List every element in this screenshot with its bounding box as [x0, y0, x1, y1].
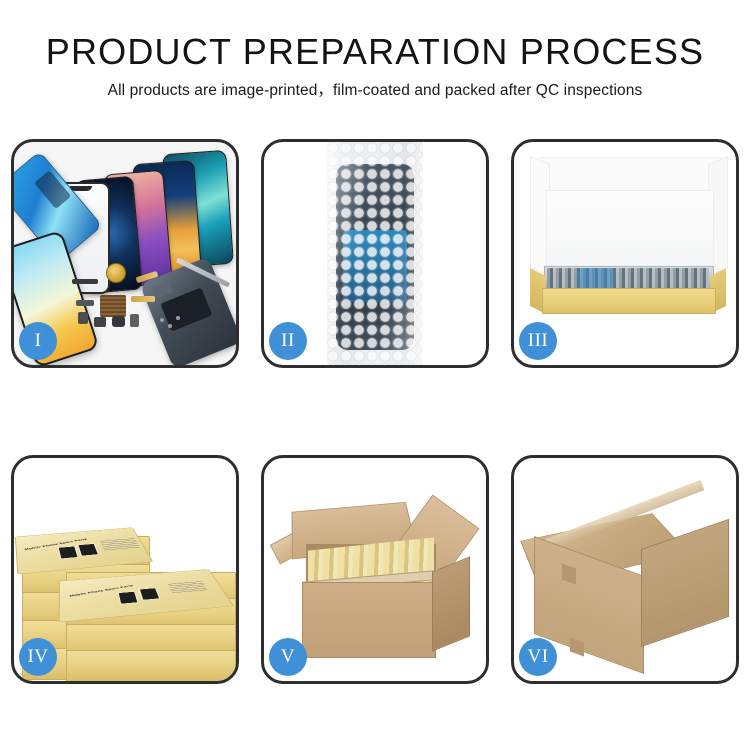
page-title: PRODUCT PREPARATION PROCESS: [0, 30, 750, 74]
taptic-engine-part-icon: [78, 312, 88, 324]
plastic-sheen-icon: [327, 142, 423, 365]
box-label-spec-lines-right: [168, 581, 208, 593]
mesh-part-icon: [100, 295, 126, 317]
wrapped-product-in-box-icon: [547, 268, 709, 288]
box-label-image-3: [118, 591, 139, 604]
step-badge-3: III: [519, 322, 557, 360]
step-badge-5: V: [269, 638, 307, 676]
screw-1-icon: [160, 318, 164, 322]
box-label-image-4: [139, 588, 160, 601]
box-inner-wall-icon: [546, 190, 714, 274]
box-label-image-1: [58, 546, 79, 559]
box-label-spec-lines-left: [100, 538, 140, 551]
steps-grid: I II: [11, 139, 739, 684]
carton-front-panel-icon: [302, 582, 436, 658]
step-panel-3[interactable]: III: [511, 139, 739, 368]
step-badge-2: II: [269, 322, 307, 360]
step-panel-2[interactable]: II: [261, 139, 489, 368]
product-preparation-infographic: PRODUCT PREPARATION PROCESS All products…: [0, 0, 750, 750]
header: PRODUCT PREPARATION PROCESS All products…: [0, 30, 750, 101]
wireless-coil-part-icon: [106, 263, 126, 283]
step-badge-6: VI: [519, 638, 557, 676]
carton-side-panel-icon: [432, 556, 470, 651]
camera-module-part-icon: [94, 317, 106, 327]
step-badge-4: IV: [19, 638, 57, 676]
step-badge-1: I: [19, 322, 57, 360]
vibrator-part-icon: [130, 314, 139, 327]
screw-2-icon: [168, 324, 172, 328]
screw-3-icon: [176, 316, 180, 320]
step-panel-6[interactable]: VI: [511, 455, 739, 684]
page-subtitle: All products are image-printed，film-coat…: [0, 81, 750, 101]
step-panel-1[interactable]: I: [11, 139, 239, 368]
stacked-box-b4: [66, 650, 236, 681]
box-front-panel-icon: [542, 288, 716, 314]
step-panel-5[interactable]: V: [261, 455, 489, 684]
battery-connector-part-icon: [112, 316, 125, 327]
bubble-bag-icon: [327, 142, 423, 365]
bracket-part-icon: [76, 300, 94, 306]
speaker-part-icon: [72, 279, 98, 284]
flex-cable-2-part-icon: [131, 296, 155, 302]
box-label-image-2: [77, 543, 98, 556]
step-panel-4[interactable]: Mobile Phone Spare Parts Mobile Phone Sp…: [11, 455, 239, 684]
